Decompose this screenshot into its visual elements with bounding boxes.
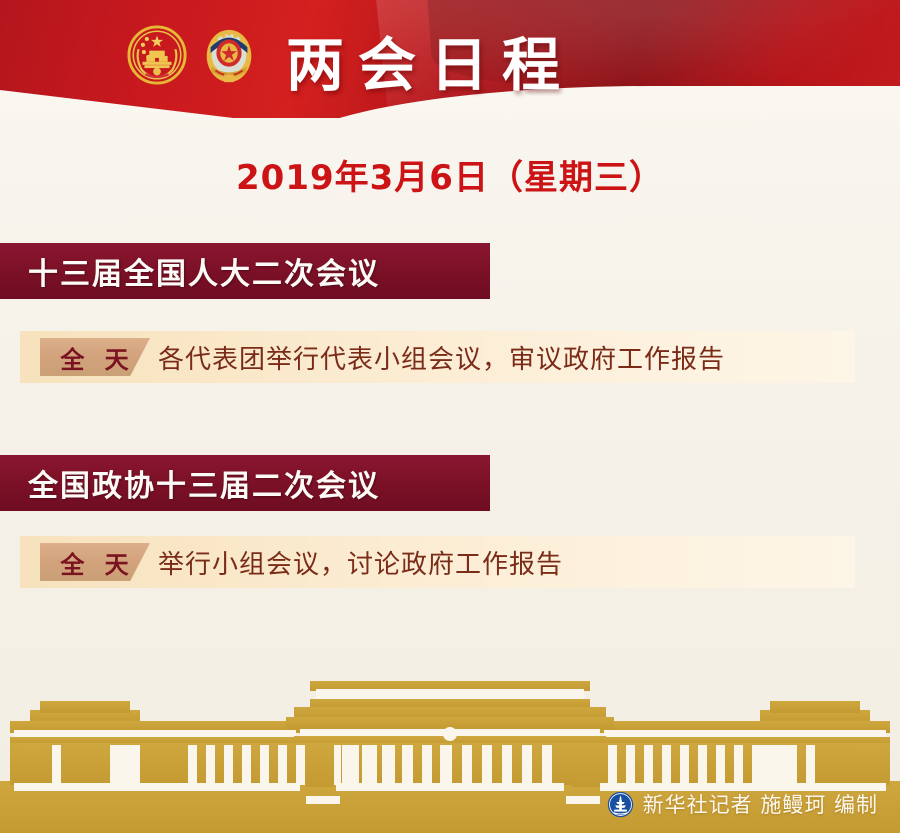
time-badge-npc-1: 全 天 bbox=[40, 338, 150, 376]
event-row-cppcc-1: 全 天 举行小组会议，讨论政府工作报告 bbox=[20, 536, 855, 588]
national-emblem-of-china-icon bbox=[126, 24, 188, 86]
poster-root: 两会日程 2019年3月6日（星期三） 十三届全国人大二次会议 全 天 各代表团… bbox=[0, 0, 900, 833]
emblem-group bbox=[126, 24, 260, 86]
section-heading-cppcc-label: 全国政协十三届二次会议 bbox=[28, 461, 380, 505]
credit-text: 新华社记者 施鳗珂 编制 bbox=[643, 789, 878, 819]
event-row-npc-1: 全 天 各代表团举行代表小组会议，审议政府工作报告 bbox=[20, 331, 855, 383]
section-heading-cppcc: 全国政协十三届二次会议 bbox=[0, 455, 490, 511]
page-title: 两会日程 bbox=[286, 18, 574, 102]
credit-block: 新华社记者 施鳗珂 编制 bbox=[607, 789, 878, 819]
xinhua-logo-icon bbox=[607, 791, 634, 818]
event-description-cppcc-1: 举行小组会议，讨论政府工作报告 bbox=[158, 544, 563, 581]
section-heading-npc: 十三届全国人大二次会议 bbox=[0, 243, 490, 299]
event-description-npc-1: 各代表团举行代表小组会议，审议政府工作报告 bbox=[158, 339, 725, 376]
header-banner: 两会日程 bbox=[0, 0, 900, 118]
time-badge-npc-1-label: 全 天 bbox=[55, 340, 134, 375]
cppcc-emblem-icon bbox=[198, 24, 260, 86]
time-badge-cppcc-1: 全 天 bbox=[40, 543, 150, 581]
date-heading: 2019年3月6日（星期三） bbox=[0, 150, 900, 199]
time-badge-cppcc-1-label: 全 天 bbox=[55, 545, 134, 580]
section-heading-npc-label: 十三届全国人大二次会议 bbox=[28, 249, 380, 293]
